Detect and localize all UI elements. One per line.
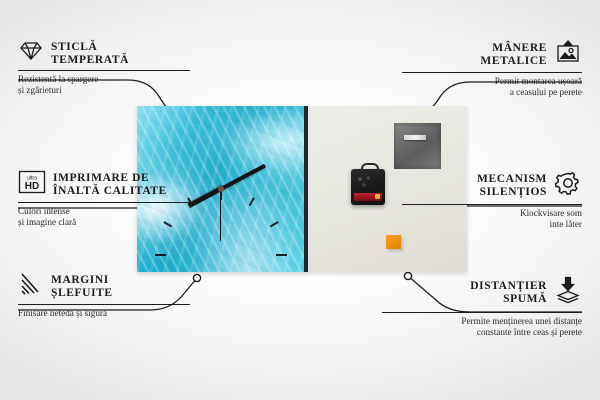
callout-desc: Permit montarea ușoară a ceasului pe per… — [402, 76, 582, 99]
callout-polished-edges: MARGINI ȘLEFUITE Finisare netedă și sigu… — [18, 272, 190, 319]
callout-title: STICLĂ TEMPERATĂ — [51, 41, 129, 67]
clock-center-cap — [218, 186, 224, 192]
svg-text:HD: HD — [25, 181, 39, 192]
clock-minute-hand — [220, 164, 266, 191]
callout-title: IMPRIMARE DE ÎNALTĂ CALITATE — [53, 172, 167, 198]
callout-title: MÂNERE METALICE — [480, 42, 547, 68]
callout-rule — [402, 72, 582, 73]
foam-spacer-pad — [386, 235, 401, 249]
callout-rule — [382, 312, 582, 313]
callout-print-quality: ultra HD IMPRIMARE DE ÎNALTĂ CALITATE Cu… — [18, 170, 196, 229]
hanger-slot — [404, 135, 426, 140]
callout-rule — [18, 202, 196, 203]
framed-picture-icon — [554, 40, 582, 69]
callout-desc: Finisare netedă și sigură — [18, 308, 190, 319]
quartz-movement — [351, 169, 385, 205]
gear-icon — [554, 170, 582, 201]
callout-foam-spacer: DISTANȚIER SPUMĂ Permite menținerea unei… — [382, 276, 582, 339]
connector-dot-polished-edges — [193, 274, 200, 281]
battery — [354, 193, 382, 201]
metal-hanger-plate — [394, 123, 441, 169]
movement-detail — [356, 175, 376, 189]
callout-rule — [18, 304, 190, 305]
diamond-icon — [18, 40, 44, 67]
callout-title: MARGINI ȘLEFUITE — [51, 274, 113, 300]
callout-title: DISTANȚIER SPUMĂ — [470, 280, 547, 306]
callout-desc: Culori intense și imagine clară — [18, 206, 196, 229]
callout-rule — [18, 70, 190, 71]
battery-terminal — [375, 194, 380, 199]
callout-desc: Klockvisare som inte låter — [402, 208, 582, 231]
callout-rule — [402, 204, 582, 205]
callout-metal-hangers: MÂNERE METALICE Permit montarea ușoară a… — [402, 40, 582, 99]
movement-hanger-loop — [361, 163, 379, 174]
callout-title: MECANISM SILENȚIOS — [477, 173, 547, 199]
callout-silent-mechanism: MECANISM SILENȚIOS Klockvisare som inte … — [402, 170, 582, 231]
press-down-icon — [554, 276, 582, 309]
ultra-hd-icon: ultra HD — [18, 170, 46, 199]
product-infographic: STICLĂ TEMPERATĂ Rezistentă la spargere … — [0, 0, 600, 400]
callout-tempered-glass: STICLĂ TEMPERATĂ Rezistentă la spargere … — [18, 40, 190, 97]
callout-desc: Permite menținerea unei distanțe constan… — [382, 316, 582, 339]
callout-desc: Rezistentă la spargere și zgârieturi — [18, 74, 190, 97]
beveled-edge-icon — [18, 272, 44, 301]
